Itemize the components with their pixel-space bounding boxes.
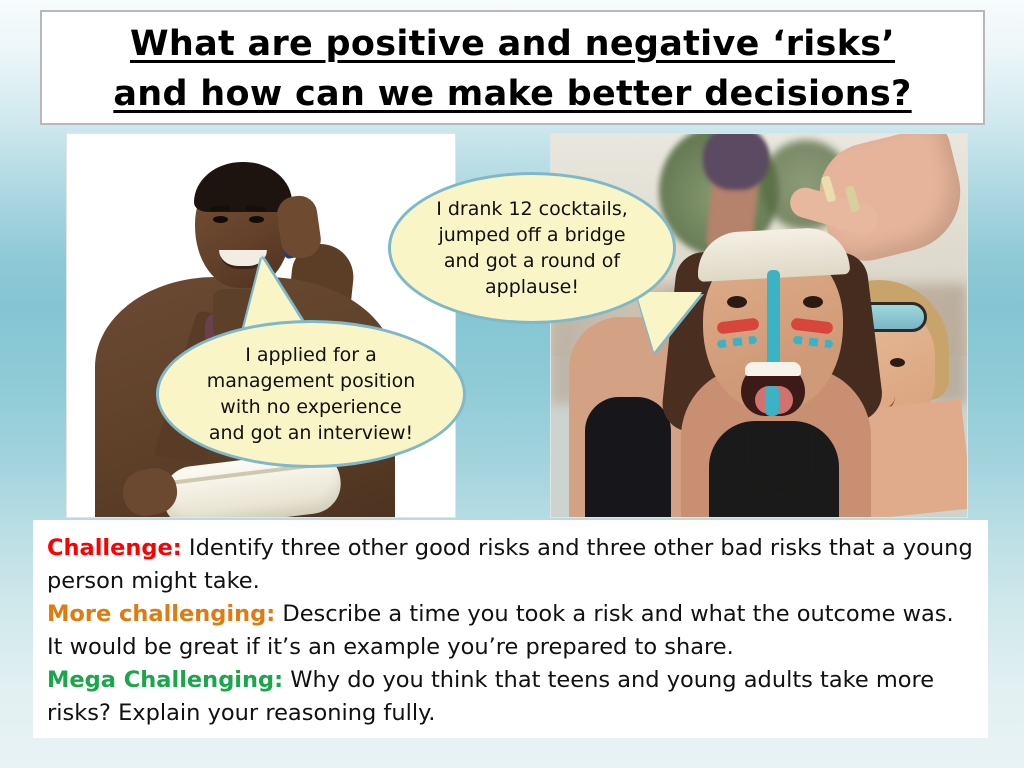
task-challenge: Challenge: Identify three other good ris…	[47, 532, 974, 598]
slide-canvas: What are positive and negative ‘risks’ a…	[0, 0, 1024, 768]
photo-shape-person-left-top	[585, 397, 671, 517]
speech-bubble-tail-top	[636, 292, 702, 352]
photo-shape-teeth	[745, 362, 801, 376]
risky-behaviour-bubble: I drank 12 cocktails, jumped off a bridg…	[388, 172, 676, 324]
task-more-challenging: More challenging: Describe a time you to…	[47, 598, 974, 664]
task-panel: Challenge: Identify three other good ris…	[33, 520, 988, 738]
positive-risk-bubble: I applied for a management position with…	[156, 320, 466, 468]
photo-shape-main-eye-left	[727, 296, 747, 308]
task-more-challenging-label: More challenging:	[47, 601, 275, 627]
title-line-1: What are positive and negative ‘risks’	[130, 19, 895, 69]
photo-shape-hair	[194, 162, 292, 212]
title-line-2: and how can we make better decisions?	[113, 69, 911, 119]
photo-shape-raised-hand	[703, 133, 769, 190]
positive-risk-bubble-text: I applied for a management position with…	[191, 342, 432, 446]
task-mega-challenging-label: Mega Challenging:	[47, 667, 283, 693]
photo-shape-face-paint-chin	[765, 386, 779, 416]
risky-behaviour-bubble-text: I drank 12 cocktails, jumped off a bridg…	[420, 196, 644, 300]
task-challenge-label: Challenge:	[47, 535, 182, 561]
task-mega-challenging: Mega Challenging: Why do you think that …	[47, 664, 974, 730]
photo-shape-person-right-eye-right	[890, 358, 905, 367]
photo-shape-main-eye-right	[803, 296, 823, 308]
photo-shape-eye-right	[249, 216, 264, 223]
task-challenge-body: Identify three other good risks and thre…	[47, 535, 973, 594]
photo-shape-eye-left	[213, 216, 228, 223]
title-box: What are positive and negative ‘risks’ a…	[40, 10, 985, 125]
